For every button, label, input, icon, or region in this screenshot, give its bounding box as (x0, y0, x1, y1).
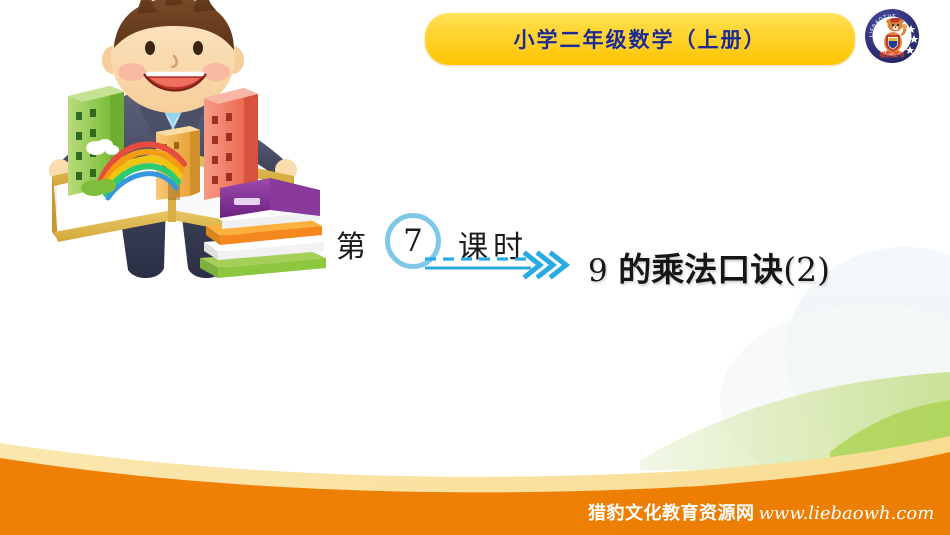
banner-title-text: 小学二年级数学（上册） (514, 24, 767, 54)
footer-site-name: 猎豹文化教育资源网 (588, 503, 755, 524)
footer-site-url: www.liebaowh.com (755, 503, 935, 524)
blue-arrow-icon (425, 250, 575, 282)
lesson-title-cn: 的乘法口诀 (618, 250, 783, 289)
footer-watermark: 猎豹文化教育资源网www.liebaowh.com (588, 499, 934, 525)
green-swoosh-decoration (640, 372, 950, 470)
lesson-prefix-label: 第 (336, 222, 366, 266)
boy-with-popup-book-illustration (8, 0, 338, 292)
lesson-title: 9 的乘法口诀(2) (588, 243, 830, 291)
lesson-title-paren: (2) (783, 250, 830, 289)
liebao-tushu-badge-icon: LIEBAOTUSHU (864, 8, 920, 64)
title-banner: 小学二年级数学（上册） (425, 13, 855, 65)
slide-root: 小学二年级数学（上册） LIEBAOTUSHU (0, 0, 950, 535)
badge-chinese-text: 猎豹图书 (880, 51, 906, 59)
lesson-title-number: 9 (588, 253, 608, 289)
